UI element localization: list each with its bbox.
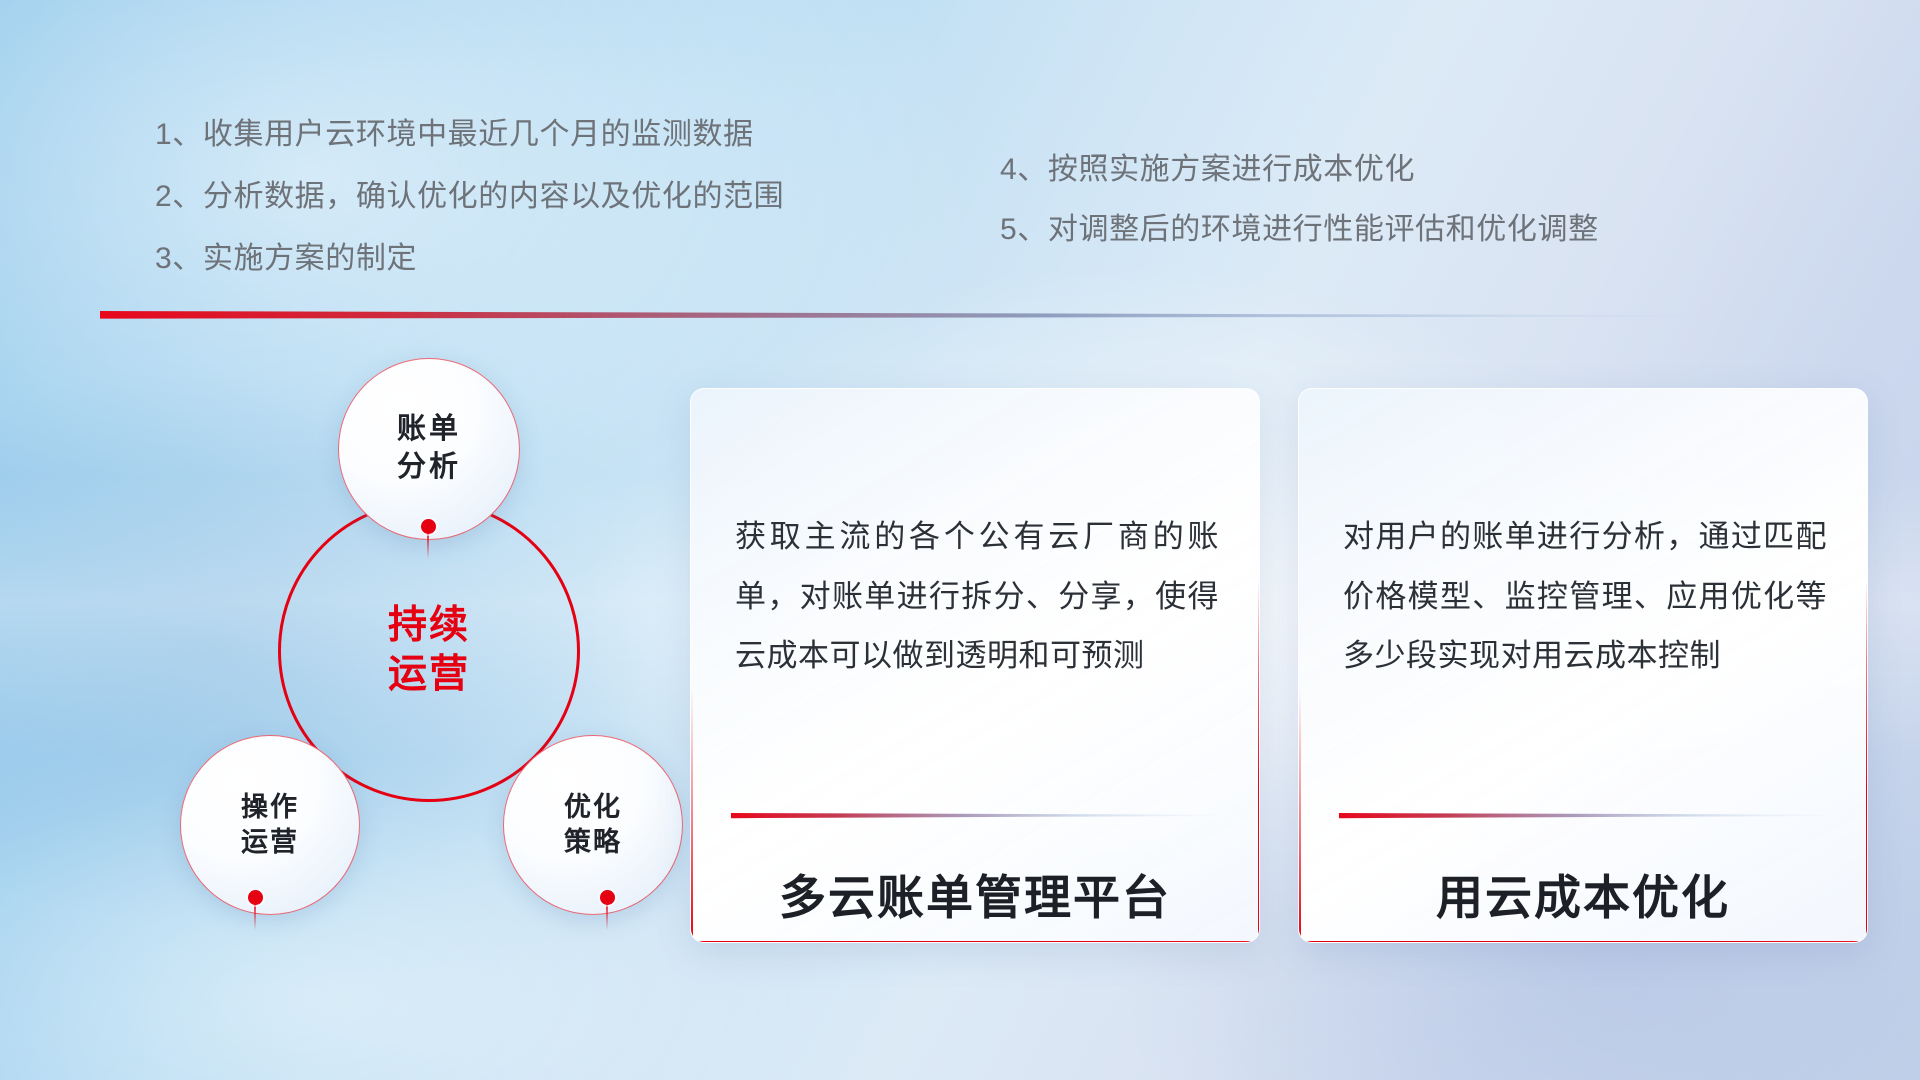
card-description: 获取主流的各个公有云厂商的账单，对账单进行拆分、分享，使得云成本可以做到透明和可… (735, 507, 1219, 686)
card-rule-divider (731, 806, 1217, 813)
card-body: 获取主流的各个公有云厂商的账单，对账单进行拆分、分享，使得云成本可以做到透明和可… (735, 507, 1219, 686)
card-title: 用云成本优化 (1299, 859, 1867, 928)
bubble-bottom-right-line-2: 策略 (564, 825, 622, 860)
feature-card-multicloud-billing[interactable]: 获取主流的各个公有云厂商的账单，对账单进行拆分、分享，使得云成本可以做到透明和可… (690, 388, 1260, 943)
feature-card-cloud-cost-optimization[interactable]: 对用户的账单进行分析，通过匹配价格模型、监控管理、应用优化等多少段实现对用云成本… (1298, 388, 1868, 943)
diagram-node-tail-top (427, 533, 429, 559)
bubble-bottom-left-line-2: 运营 (241, 825, 299, 860)
step-item-2: 2、分析数据，确认优化的内容以及优化的范围 (155, 182, 784, 212)
step-item-5: 5、对调整后的环境进行性能评估和优化调整 (1000, 215, 1599, 245)
diagram-bubble-optimization-strategy[interactable]: 优化 策略 (503, 735, 683, 915)
bubble-top-line-1: 账单 (397, 411, 461, 449)
diagram-node-tail-bottom-left (254, 904, 256, 930)
step-item-3: 3、实施方案的制定 (155, 244, 784, 274)
bubble-bottom-left-line-1: 操作 (241, 790, 299, 825)
diagram-bubble-operations[interactable]: 操作 运营 (180, 735, 360, 915)
diagram-node-tail-bottom-right (606, 904, 608, 930)
diagram-node-dot-top (421, 519, 436, 534)
diagram-node-dot-bottom-left (248, 890, 263, 905)
section-divider (100, 308, 1690, 320)
card-accent-bottom (691, 941, 1259, 944)
card-accent-bottom (1299, 941, 1867, 944)
card-rule-divider (1339, 806, 1825, 813)
divider-shape (100, 309, 1690, 321)
steps-column-left: 1、收集用户云环境中最近几个月的监测数据 2、分析数据，确认优化的内容以及优化的… (155, 120, 784, 306)
bubble-bottom-right-line-1: 优化 (564, 790, 622, 825)
card-rule-shape (1339, 812, 1825, 819)
card-description: 对用户的账单进行分析，通过匹配价格模型、监控管理、应用优化等多少段实现对用云成本… (1343, 507, 1827, 686)
diagram-node-dot-bottom-right (600, 890, 615, 905)
step-item-4: 4、按照实施方案进行成本优化 (1000, 155, 1599, 185)
center-label-line-2: 运营 (388, 651, 470, 700)
steps-column-right: 4、按照实施方案进行成本优化 5、对调整后的环境进行性能评估和优化调整 (1000, 155, 1599, 275)
diagram-bubble-bill-analysis[interactable]: 账单 分析 (338, 358, 520, 540)
process-steps-section: 1、收集用户云环境中最近几个月的监测数据 2、分析数据，确认优化的内容以及优化的… (0, 0, 1920, 340)
card-title: 多云账单管理平台 (691, 859, 1259, 928)
step-item-1: 1、收集用户云环境中最近几个月的监测数据 (155, 120, 784, 150)
card-rule-shape (731, 812, 1217, 819)
bubble-top-line-2: 分析 (397, 449, 461, 487)
card-body: 对用户的账单进行分析，通过匹配价格模型、监控管理、应用优化等多少段实现对用云成本… (1343, 507, 1827, 686)
continuous-operation-diagram: 持续 运营 账单 分析 操作 运营 优化 策略 (90, 350, 670, 950)
center-label-line-1: 持续 (388, 602, 470, 651)
